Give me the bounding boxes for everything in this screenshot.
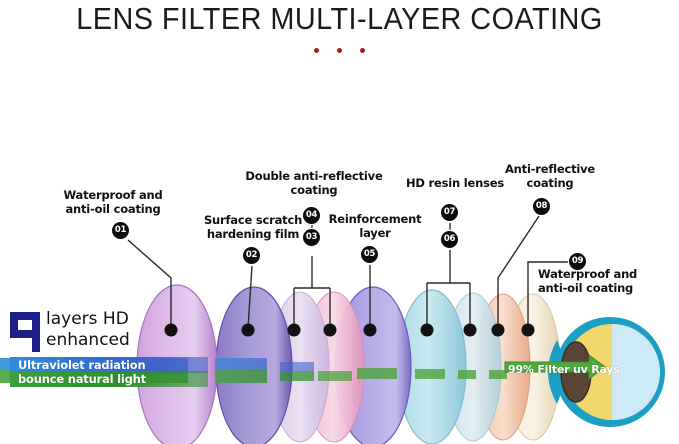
lens-dot-7 [464, 324, 477, 337]
nine-layers-feature-block: layers HD enhanced [8, 310, 148, 356]
callout-label-01: Waterproof and anti-oil coating [48, 189, 178, 216]
lens-dot-1 [165, 324, 178, 337]
callout-label-08: Anti-reflective coating [494, 163, 606, 190]
poster-canvas: LENS FILTER MULTI-LAYER COATING [0, 0, 679, 444]
callout-label-04: Double anti-reflective coating [236, 170, 392, 197]
badge-03[interactable]: 03 [303, 229, 320, 246]
nine-numeral-glyph [8, 310, 42, 354]
badge-02[interactable]: 02 [243, 247, 260, 264]
badge-09[interactable]: 09 [569, 253, 586, 270]
lens-dot-6 [421, 324, 434, 337]
lens-dot-4 [324, 324, 337, 337]
lens-dot-5 [364, 324, 377, 337]
callout-label-05: Reinforcement layer [324, 213, 426, 240]
callout-label-09: Waterproof and anti-oil coating [538, 268, 672, 295]
bounce-light-band: bounce natural light [10, 371, 208, 387]
nine-layers-text: layers HD enhanced [46, 309, 130, 351]
uv-filter-label: 99% Filter uv Rays [508, 363, 620, 376]
callout-label-02: Surface scratch hardening film [186, 214, 320, 241]
badge-05[interactable]: 05 [361, 246, 378, 263]
badge-07[interactable]: 07 [441, 204, 458, 221]
lens-dot-3 [288, 324, 301, 337]
lens-dot-2 [242, 324, 255, 337]
badge-08[interactable]: 08 [533, 198, 550, 215]
badge-04[interactable]: 04 [303, 207, 320, 224]
lens-dot-9 [522, 324, 535, 337]
badge-06[interactable]: 06 [441, 231, 458, 248]
lens-dot-8 [492, 324, 505, 337]
badge-01[interactable]: 01 [112, 222, 129, 239]
